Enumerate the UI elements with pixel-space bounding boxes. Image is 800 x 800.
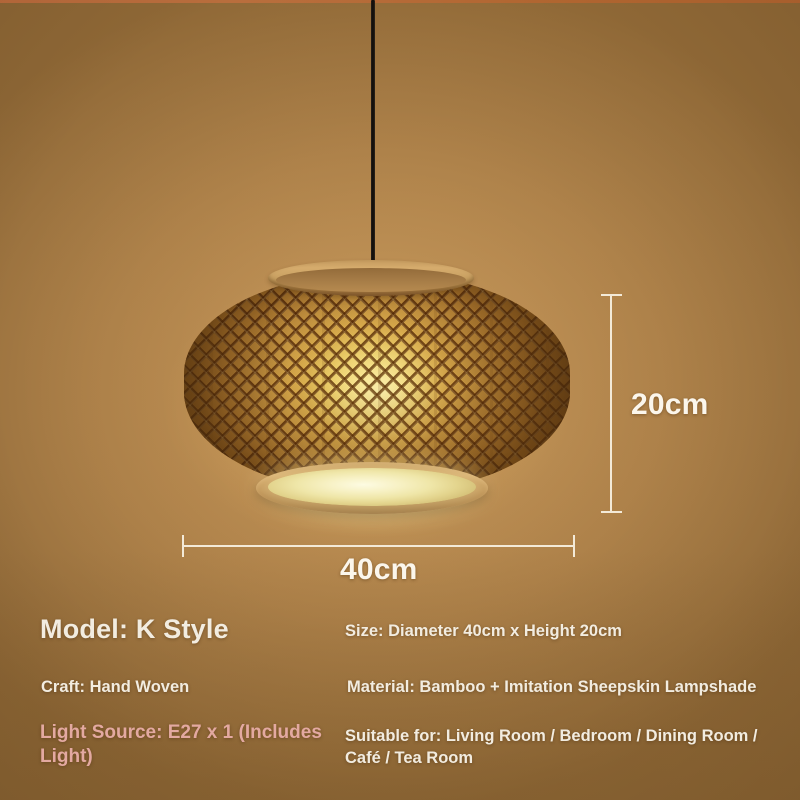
height-dimension-tick-top bbox=[601, 294, 622, 296]
spec-model: Model: K Style bbox=[40, 614, 229, 645]
spec-light-source: Light Source: E27 x 1 (Includes Light) bbox=[40, 721, 330, 770]
width-dimension-tick-right bbox=[573, 535, 575, 557]
woven-lampshade-body bbox=[184, 272, 570, 494]
width-dimension-label: 40cm bbox=[340, 553, 418, 587]
height-dimension-tick-bottom bbox=[601, 511, 622, 513]
width-dimension-tick-left bbox=[182, 535, 184, 557]
shade-curvature-shading bbox=[184, 272, 570, 494]
top-edge-strip bbox=[0, 0, 800, 3]
lamp-cord bbox=[371, 0, 375, 272]
spec-craft: Craft: Hand Woven bbox=[41, 678, 189, 697]
product-image-canvas: 20cm 40cm Model: K Style Craft: Hand Wov… bbox=[0, 0, 800, 800]
width-dimension-line bbox=[183, 545, 575, 547]
spec-suitable-for: Suitable for: Living Room / Bedroom / Di… bbox=[345, 725, 795, 770]
glowing-diffuser-disc bbox=[268, 468, 476, 506]
top-rim-inner-band bbox=[276, 268, 466, 292]
pendant-lamp bbox=[180, 258, 574, 520]
spec-size: Size: Diameter 40cm x Height 20cm bbox=[345, 622, 622, 641]
spec-material: Material: Bamboo + Imitation Sheepskin L… bbox=[347, 678, 756, 697]
height-dimension-line bbox=[610, 295, 612, 513]
height-dimension-label: 20cm bbox=[631, 388, 709, 422]
